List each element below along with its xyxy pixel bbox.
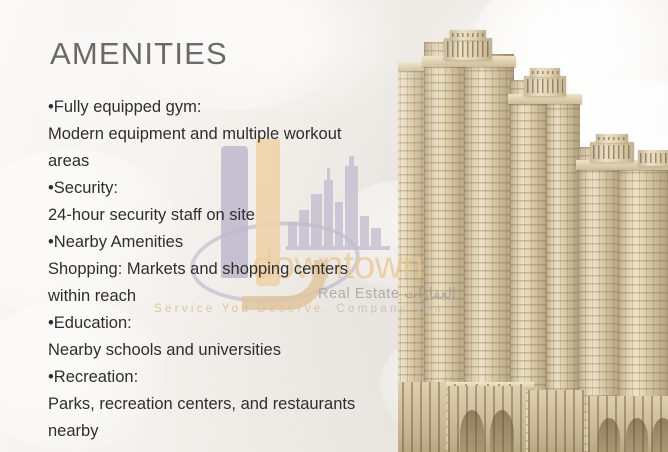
- tower-crown: [444, 38, 492, 60]
- list-item: Modern equipment and multiple workout: [48, 121, 408, 148]
- tower-crown: [638, 150, 668, 166]
- list-item: nearby: [48, 418, 408, 445]
- list-item: areas: [48, 148, 408, 175]
- tower-crown: [524, 76, 566, 96]
- podium-arch: [652, 418, 668, 452]
- tower-crown-top: [596, 134, 628, 143]
- slide-canvas: downtown Real Estate العقارات Service Yo…: [0, 0, 668, 452]
- tower-crown-top: [530, 68, 560, 77]
- podium-arch: [626, 418, 648, 452]
- amenities-list: •Fully equipped gym: Modern equipment an…: [48, 94, 408, 445]
- list-item: Parks, recreation centers, and restauran…: [48, 391, 408, 418]
- tower-crown-top: [450, 30, 486, 40]
- tower-crown: [590, 142, 634, 162]
- residential-towers-image: [398, 0, 668, 452]
- list-item: •Nearby Amenities: [48, 229, 408, 256]
- list-item: •Recreation:: [48, 364, 408, 391]
- podium-arch: [490, 410, 514, 452]
- list-item: Nearby schools and universities: [48, 337, 408, 364]
- podium-arch: [460, 410, 484, 452]
- list-item: •Security:: [48, 175, 408, 202]
- podium-block: [528, 390, 584, 452]
- list-item: Shopping: Markets and shopping centers: [48, 256, 408, 283]
- list-item: •Fully equipped gym:: [48, 94, 408, 121]
- list-item: within reach: [48, 283, 408, 310]
- page-title: AMENITIES: [50, 36, 228, 72]
- list-item: •Education:: [48, 310, 408, 337]
- list-item: 24-hour security staff on site: [48, 202, 408, 229]
- podium-arch: [598, 418, 620, 452]
